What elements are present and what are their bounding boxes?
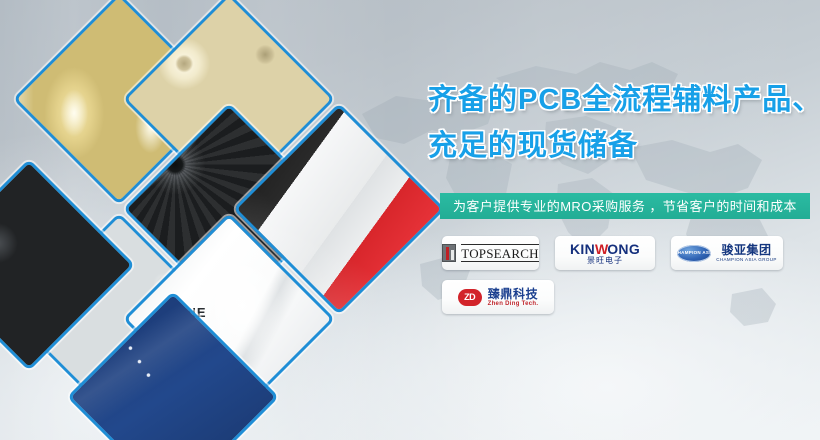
- topsearch-wordmark: TOPSEARCH: [461, 244, 538, 262]
- kinwong-wordmark-head: KIN: [570, 242, 595, 256]
- topsearch-mark-icon: [442, 244, 456, 262]
- zhen-ding-chinese-name: 臻鼎科技: [488, 288, 538, 300]
- zhen-ding-lockup: ZD 臻鼎科技 Zhen Ding Tech.: [458, 288, 539, 307]
- globe-icon-text: CHAMPION ASIA: [674, 251, 714, 256]
- tagline-bar: 为客户提供专业的MRO采购服务 ，节省客户的时间和成本: [440, 193, 810, 219]
- headline-line-2: 充足的现货储备: [428, 124, 820, 168]
- partner-logo-row-2: ZD 臻鼎科技 Zhen Ding Tech.: [442, 280, 812, 314]
- kinwong-chinese-name: 景旺电子: [587, 257, 623, 265]
- kinwong-wordmark-accent: W: [595, 242, 607, 256]
- topsearch-lockup: TOPSEARCH: [442, 244, 538, 262]
- product-collage: JIE: [0, 0, 380, 440]
- champion-asia-chinese-name: 骏亚集团: [721, 244, 771, 256]
- tagline-text: 为客户提供专业的MRO采购服务 ，节省客户的时间和成本: [440, 200, 797, 213]
- partner-logo-topsearch[interactable]: TOPSEARCH: [442, 236, 539, 270]
- partner-logo-kinwong[interactable]: KINWONG 景旺电子: [555, 236, 655, 270]
- zhen-ding-english-name: Zhen Ding Tech.: [488, 301, 539, 307]
- partner-logo-group: TOPSEARCH KINWONG 景旺电子 CHAMPION ASIA: [442, 236, 812, 324]
- promo-banner: JIE 齐备的PCB全流程辅料产品、 充足的现货储备 为客户提供专业的MRO采购…: [0, 0, 820, 440]
- champion-asia-lockup: CHAMPION ASIA 骏亚集团 CHAMPION ASIA GROUP: [677, 244, 777, 262]
- kinwong-lockup: KINWONG 景旺电子: [570, 242, 640, 265]
- zhen-ding-text: 臻鼎科技 Zhen Ding Tech.: [488, 288, 539, 307]
- zhen-ding-mark-icon: ZD: [458, 289, 482, 306]
- champion-asia-english-name: CHAMPION ASIA GROUP: [716, 257, 777, 262]
- headline-line-1: 齐备的PCB全流程辅料产品、: [428, 78, 820, 122]
- banner-text-panel: 齐备的PCB全流程辅料产品、 充足的现货储备 为客户提供专业的MRO采购服务 ，…: [428, 78, 820, 358]
- globe-icon: CHAMPION ASIA: [677, 245, 711, 262]
- champion-asia-text: 骏亚集团 CHAMPION ASIA GROUP: [716, 244, 777, 262]
- partner-logo-row-1: TOPSEARCH KINWONG 景旺电子 CHAMPION ASIA: [442, 236, 812, 270]
- kinwong-wordmark-tail: ONG: [607, 242, 640, 256]
- partner-logo-champion-asia[interactable]: CHAMPION ASIA 骏亚集团 CHAMPION ASIA GROUP: [671, 236, 783, 270]
- partner-logo-zhen-ding[interactable]: ZD 臻鼎科技 Zhen Ding Tech.: [442, 280, 554, 314]
- kinwong-wordmark: KINWONG: [570, 242, 640, 256]
